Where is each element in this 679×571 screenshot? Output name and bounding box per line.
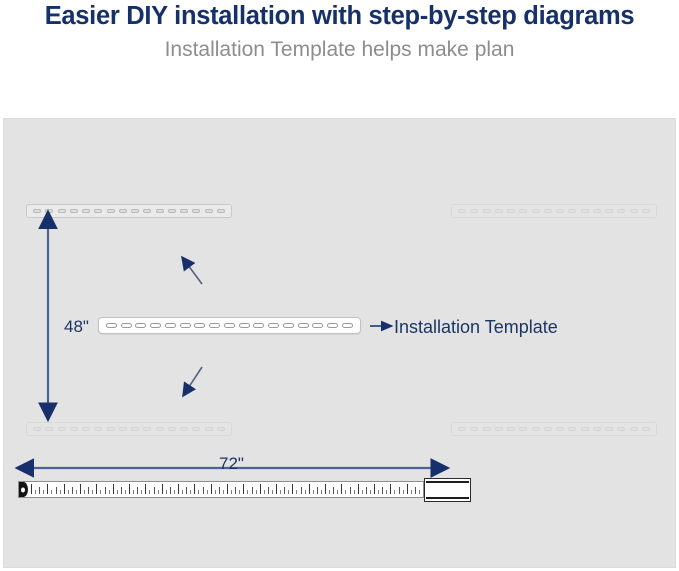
mount-bar-slot: [581, 209, 589, 213]
tape-minor-tick: [362, 490, 363, 495]
tape-minor-tick: [72, 487, 73, 494]
tape-minor-tick: [35, 490, 36, 495]
tape-minor-tick: [350, 487, 351, 494]
mount-bar-slot: [470, 427, 478, 431]
tape-major-tick: [227, 484, 228, 494]
mount-bar-slot: [581, 427, 589, 431]
tape-minor-tick: [419, 490, 420, 495]
mount-bar-slot: [45, 427, 53, 431]
tape-minor-tick: [321, 490, 322, 495]
mount-bar-slot: [630, 427, 638, 431]
mount-bar-slot: [58, 427, 66, 431]
mount-bar-slot: [217, 427, 225, 431]
tape-minor-tick: [252, 487, 253, 494]
page-subtitle: Installation Template helps make plan: [0, 38, 679, 62]
mount-bar-slot: [156, 209, 164, 213]
tape-major-tick: [178, 484, 179, 494]
tape-minor-tick: [105, 487, 106, 494]
tape-major-tick: [194, 484, 195, 494]
mount-bar-slot: [556, 427, 564, 431]
mount-bar-slot: [205, 427, 213, 431]
tape-measure-case: [424, 478, 471, 502]
mount-bar-slot: [82, 209, 90, 213]
template-slot: [224, 323, 235, 328]
mount-bar-slot: [593, 427, 601, 431]
tape-minor-tick: [137, 487, 138, 494]
template-slot: [106, 323, 117, 328]
mount-bar-slot: [556, 209, 564, 213]
mount-bar-slot: [119, 427, 127, 431]
mount-bar-slot: [593, 209, 601, 213]
tape-major-tick: [390, 484, 391, 494]
tape-major-tick: [47, 484, 48, 494]
mount-bar-slot: [605, 427, 613, 431]
tape-minor-tick: [256, 490, 257, 495]
template-to-bottom-bar-arrow: [183, 367, 202, 396]
template-slot: [327, 323, 338, 328]
tape-minor-tick: [288, 490, 289, 495]
vertical-dimension-label: 48": [64, 317, 89, 337]
mount-bar-slot: [156, 427, 164, 431]
installation-diagram-panel: 48" 72" Installation Template: [3, 118, 676, 568]
tape-minor-tick: [317, 487, 318, 494]
tape-major-tick: [64, 484, 65, 494]
tape-minor-tick: [382, 487, 383, 494]
tape-measure: [18, 481, 424, 498]
mount-bar-slot: [217, 209, 225, 213]
horizontal-dimension-label: 72": [219, 454, 244, 474]
top-right-mount-bar: [451, 204, 657, 218]
tape-minor-tick: [158, 490, 159, 495]
tape-minor-tick: [51, 490, 52, 495]
product-feature-card: Easier DIY installation with step-by-ste…: [0, 0, 679, 571]
tape-major-tick: [260, 484, 261, 494]
tape-minor-tick: [272, 490, 273, 495]
mount-bar-slot: [495, 427, 503, 431]
mount-bar-slot: [617, 209, 625, 213]
mount-bar-slot: [617, 427, 625, 431]
tape-minor-tick: [329, 490, 330, 495]
tape-minor-tick: [268, 487, 269, 494]
tape-major-tick: [211, 484, 212, 494]
tape-minor-tick: [133, 490, 134, 495]
tape-minor-tick: [76, 490, 77, 495]
mount-bar-slot: [107, 427, 115, 431]
tape-major-tick: [407, 484, 408, 494]
mount-bar-slot: [642, 427, 650, 431]
template-slot: [135, 323, 146, 328]
template-slot: [342, 323, 353, 328]
tape-minor-tick: [198, 490, 199, 495]
tape-minor-tick: [170, 487, 171, 494]
tape-major-tick: [276, 484, 277, 494]
mount-bar-slot: [483, 427, 491, 431]
mount-bar-slot: [568, 209, 576, 213]
tape-major-tick: [31, 484, 32, 494]
tape-major-tick: [374, 484, 375, 494]
tape-major-tick: [243, 484, 244, 494]
mount-bar-slot: [33, 209, 41, 213]
mount-bar-slot: [470, 209, 478, 213]
tape-minor-tick: [386, 490, 387, 495]
tape-minor-tick: [235, 487, 236, 494]
tape-minor-tick: [223, 490, 224, 495]
tape-minor-tick: [60, 490, 61, 495]
tape-minor-tick: [296, 490, 297, 495]
mount-bar-slot: [192, 427, 200, 431]
mount-bar-slot: [131, 427, 139, 431]
mount-bar-slot: [107, 209, 115, 213]
tape-minor-tick: [313, 490, 314, 495]
mount-bar-slot: [544, 209, 552, 213]
mount-bar-slot: [45, 209, 53, 213]
mount-bar-slot: [131, 209, 139, 213]
mount-bar-slot: [70, 427, 78, 431]
mount-bar-slot: [192, 209, 200, 213]
tape-case-bottom-edge: [426, 497, 469, 499]
template-to-top-bar-arrow: [182, 257, 202, 284]
mount-bar-slot: [33, 427, 41, 431]
tape-minor-tick: [264, 490, 265, 495]
template-slot: [209, 323, 220, 328]
tape-minor-tick: [39, 487, 40, 494]
mount-bar-slot: [507, 209, 515, 213]
header: Easier DIY installation with step-by-ste…: [0, 0, 679, 118]
tape-minor-tick: [84, 490, 85, 495]
tape-major-tick: [309, 484, 310, 494]
bottom-right-mount-bar: [451, 422, 657, 436]
mount-bar-slot: [483, 209, 491, 213]
tape-minor-tick: [43, 490, 44, 495]
template-slot: [312, 323, 323, 328]
mount-bar-slot: [495, 209, 503, 213]
mount-bar-slot: [568, 427, 576, 431]
tape-minor-tick: [247, 490, 248, 495]
tape-minor-tick: [92, 490, 93, 495]
mount-bar-slot: [519, 209, 527, 213]
template-slot: [268, 323, 279, 328]
mount-bar-slot: [642, 209, 650, 213]
tape-minor-tick: [68, 490, 69, 495]
tape-minor-tick: [125, 490, 126, 495]
tape-minor-tick: [333, 487, 334, 494]
template-slot: [194, 323, 205, 328]
mount-bar-slot: [94, 427, 102, 431]
tape-minor-tick: [370, 490, 371, 495]
tape-minor-tick: [190, 490, 191, 495]
tape-minor-tick: [219, 487, 220, 494]
mount-bar-slot: [143, 427, 151, 431]
tape-minor-tick: [215, 490, 216, 495]
mount-bar-slot: [143, 209, 151, 213]
page-title: Easier DIY installation with step-by-ste…: [0, 2, 679, 31]
installation-template-bar: [98, 317, 361, 334]
template-slot: [165, 323, 176, 328]
template-slot: [121, 323, 132, 328]
template-slot: [150, 323, 161, 328]
tape-major-tick: [358, 484, 359, 494]
mount-bar-slot: [519, 427, 527, 431]
mount-bar-slot: [82, 427, 90, 431]
tape-major-tick: [113, 484, 114, 494]
tape-minor-tick: [394, 490, 395, 495]
mount-bar-slot: [458, 209, 466, 213]
tape-minor-tick: [337, 490, 338, 495]
template-slot: [283, 323, 294, 328]
tape-minor-tick: [280, 490, 281, 495]
mount-bar-slot: [605, 209, 613, 213]
tape-minor-tick: [88, 487, 89, 494]
tape-minor-tick: [415, 487, 416, 494]
tape-measure-hook-eye: [21, 487, 25, 492]
tape-measure-hook: [19, 482, 28, 497]
mount-bar-slot: [180, 427, 188, 431]
mount-bar-slot: [58, 209, 66, 213]
top-left-mount-bar: [26, 204, 232, 218]
tape-minor-tick: [284, 487, 285, 494]
tape-major-tick: [341, 484, 342, 494]
tape-major-tick: [80, 484, 81, 494]
template-slot: [253, 323, 264, 328]
tape-minor-tick: [305, 490, 306, 495]
mount-bar-slot: [119, 209, 127, 213]
tape-minor-tick: [203, 487, 204, 494]
mount-bar-slot: [544, 427, 552, 431]
mount-bar-slot: [458, 427, 466, 431]
tape-minor-tick: [239, 490, 240, 495]
tape-minor-tick: [366, 487, 367, 494]
dimension-arrows-overlay: [4, 119, 676, 568]
tape-minor-tick: [345, 490, 346, 495]
tape-major-tick: [96, 484, 97, 494]
tape-minor-tick: [174, 490, 175, 495]
tape-major-tick: [129, 484, 130, 494]
tape-measure-ticks: [31, 482, 423, 497]
tape-minor-tick: [354, 490, 355, 495]
mount-bar-slot: [532, 427, 540, 431]
mount-bar-slot: [180, 209, 188, 213]
tape-minor-tick: [117, 490, 118, 495]
tape-minor-tick: [100, 490, 101, 495]
tape-minor-tick: [231, 490, 232, 495]
mount-bar-slot: [205, 209, 213, 213]
tape-minor-tick: [399, 487, 400, 494]
tape-minor-tick: [149, 490, 150, 495]
template-slot: [298, 323, 309, 328]
tape-minor-tick: [56, 487, 57, 494]
mount-bar-slot: [70, 209, 78, 213]
template-slot: [180, 323, 191, 328]
tape-minor-tick: [109, 490, 110, 495]
mount-bar-slot: [168, 209, 176, 213]
mount-bar-slot: [507, 427, 515, 431]
tape-minor-tick: [141, 490, 142, 495]
tape-minor-tick: [301, 487, 302, 494]
mount-bar-slot: [168, 427, 176, 431]
template-slot: [239, 323, 250, 328]
tape-minor-tick: [182, 490, 183, 495]
installation-template-label: Installation Template: [394, 317, 558, 338]
tape-minor-tick: [121, 487, 122, 494]
tape-minor-tick: [378, 490, 379, 495]
tape-minor-tick: [186, 487, 187, 494]
tape-major-tick: [325, 484, 326, 494]
tape-major-tick: [292, 484, 293, 494]
mount-bar-slot: [94, 209, 102, 213]
tape-case-top-edge: [426, 481, 469, 483]
bottom-left-mount-bar: [26, 422, 232, 436]
tape-minor-tick: [207, 490, 208, 495]
mount-bar-slot: [630, 209, 638, 213]
tape-minor-tick: [403, 490, 404, 495]
tape-major-tick: [145, 484, 146, 494]
mount-bar-slot: [532, 209, 540, 213]
tape-major-tick: [162, 484, 163, 494]
tape-minor-tick: [166, 490, 167, 495]
tape-minor-tick: [154, 487, 155, 494]
tape-minor-tick: [411, 490, 412, 495]
